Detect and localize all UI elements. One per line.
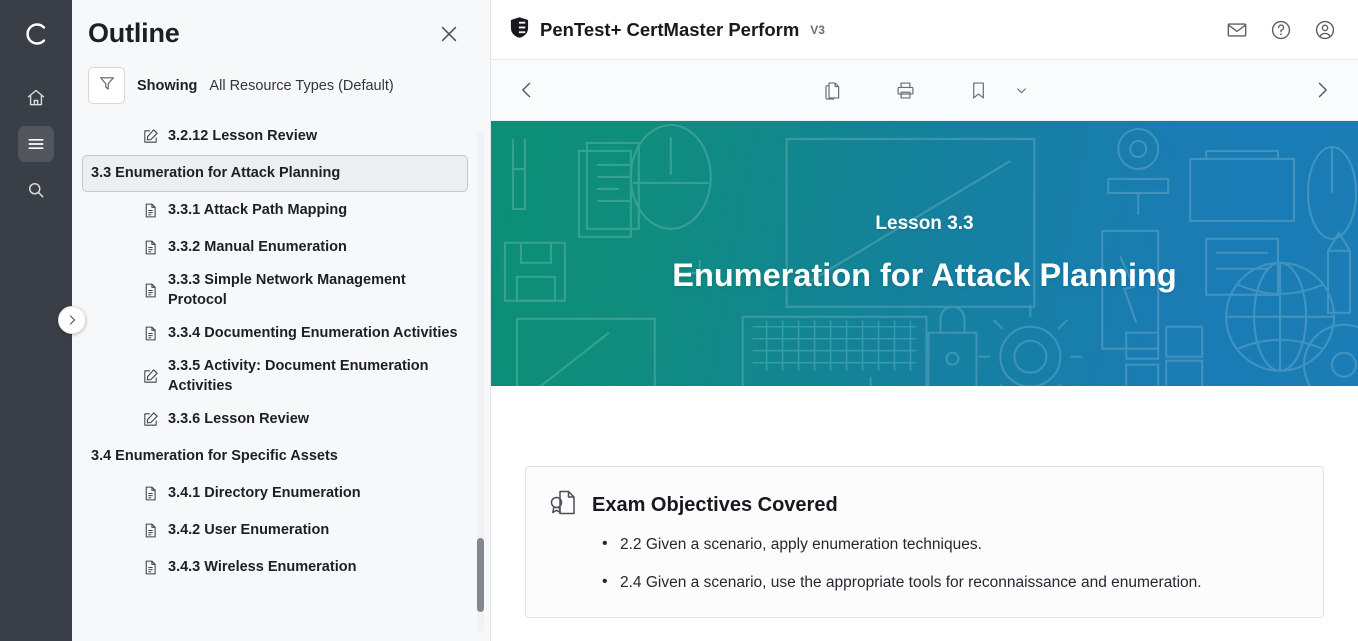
filter-row: Showing All Resource Types (Default) [72, 55, 490, 118]
page-title: Outline [88, 18, 180, 49]
app-root: Outline Showing All Resource Types (Defa… [0, 0, 1358, 641]
outline-item[interactable]: 3.3.1 Attack Path Mapping [82, 192, 468, 229]
document-toolbar [491, 60, 1358, 121]
lesson-hero-banner: Lesson 3.3 Enumeration for Attack Planni… [491, 121, 1358, 386]
outline-item-label: 3.4 Enumeration for Specific Assets [91, 447, 338, 467]
outline-item-label: 3.3 Enumeration for Attack Planning [91, 164, 340, 184]
account-icon[interactable] [1314, 19, 1336, 41]
exam-objectives-card: Exam Objectives Covered 2.2 Given a scen… [525, 466, 1324, 618]
sidebar-collapse-toggle[interactable] [58, 306, 86, 334]
top-bar-icons [1226, 19, 1336, 41]
exam-objectives-icon [548, 487, 578, 523]
exam-objectives-list: 2.2 Given a scenario, apply enumeration … [548, 533, 1297, 595]
outline-panel: Outline Showing All Resource Types (Defa… [72, 0, 491, 641]
rail-item-search[interactable] [18, 172, 54, 208]
brand-name: PenTest+ CertMaster Perform [540, 19, 799, 41]
outline-item-label: 3.4.2 User Enumeration [168, 521, 329, 541]
outline-item[interactable]: 3.2.12 Lesson Review [82, 118, 468, 155]
outline-list[interactable]: 3.2.12 Lesson Review3.3 Enumeration for … [72, 118, 490, 641]
outline-header: Outline [72, 0, 490, 55]
outline-item-label: 3.3.6 Lesson Review [168, 410, 309, 430]
previous-page-button[interactable] [513, 76, 541, 104]
outline-item[interactable]: 3.4.1 Directory Enumeration [82, 475, 468, 512]
outline-item-label: 3.3.1 Attack Path Mapping [168, 201, 347, 221]
outline-item-label: 3.3.5 Activity: Document Enumeration Act… [168, 357, 459, 396]
document-body: Exam Objectives Covered 2.2 Given a scen… [491, 386, 1358, 641]
showing-label: Showing [137, 78, 197, 94]
outline-item-label: 3.4.3 Wireless Enumeration [168, 558, 356, 578]
help-icon[interactable] [1270, 19, 1292, 41]
outline-item-label: 3.3.3 Simple Network Management Protocol [168, 271, 459, 310]
bookmark-icon[interactable] [964, 76, 993, 105]
outline-item-label: 3.3.2 Manual Enumeration [168, 238, 347, 258]
next-page-button[interactable] [1308, 76, 1336, 104]
print-icon[interactable] [891, 76, 920, 105]
chevron-down-icon[interactable] [1011, 80, 1032, 101]
hero-lesson-number: Lesson 3.3 [875, 213, 973, 235]
page-icon [141, 485, 159, 502]
outline-item[interactable]: 3.3.6 Lesson Review [82, 401, 468, 438]
outline-item[interactable]: 3.4.2 User Enumeration [82, 512, 468, 549]
hero-lesson-title: Enumeration for Attack Planning [672, 257, 1176, 294]
main-content: PenTest+ CertMaster Perform V3 [491, 0, 1358, 641]
page-icon [141, 325, 159, 342]
outline-item[interactable]: 3.4.3 Wireless Enumeration [82, 549, 468, 586]
outline-item-label: 3.4.1 Directory Enumeration [168, 484, 361, 504]
filter-icon [98, 74, 116, 97]
copy-icon[interactable] [818, 76, 847, 105]
page-icon [141, 202, 159, 219]
showing-value[interactable]: All Resource Types (Default) [209, 78, 393, 94]
outline-item-label: 3.3.4 Documenting Enumeration Activities [168, 324, 458, 344]
outline-item[interactable]: 3.3.4 Documenting Enumeration Activities [82, 315, 468, 352]
exam-objective-item: 2.2 Given a scenario, apply enumeration … [602, 533, 1297, 556]
outline-item[interactable]: 3.3 Enumeration for Attack Planning [82, 155, 468, 192]
outline-item[interactable]: 3.4 Enumeration for Specific Assets [82, 438, 468, 475]
activity-icon [141, 368, 159, 385]
hero-tech-pattern [491, 121, 1358, 386]
c-logo-icon[interactable] [16, 14, 56, 54]
page-icon [141, 522, 159, 539]
filter-button[interactable] [88, 67, 125, 104]
exam-objectives-header: Exam Objectives Covered [548, 487, 1297, 523]
exam-objectives-title: Exam Objectives Covered [592, 494, 838, 517]
outline-scrollbar-thumb[interactable] [477, 538, 484, 612]
rail-item-outline[interactable] [18, 126, 54, 162]
exam-objective-item: 2.4 Given a scenario, use the appropriat… [602, 571, 1297, 594]
brand-version: V3 [810, 23, 825, 37]
top-bar: PenTest+ CertMaster Perform V3 [491, 0, 1358, 60]
page-icon [141, 239, 159, 256]
shield-logo-icon [509, 16, 530, 44]
page-icon [141, 559, 159, 576]
outline-item[interactable]: 3.3.2 Manual Enumeration [82, 229, 468, 266]
rail-item-home[interactable] [18, 80, 54, 116]
activity-icon [141, 128, 159, 145]
page-icon [141, 282, 159, 299]
outline-item[interactable]: 3.3.5 Activity: Document Enumeration Act… [82, 352, 468, 401]
mail-icon[interactable] [1226, 19, 1248, 41]
brand: PenTest+ CertMaster Perform V3 [509, 16, 825, 44]
outline-item[interactable]: 3.3.3 Simple Network Management Protocol [82, 266, 468, 315]
close-icon[interactable] [434, 19, 464, 49]
outline-item-label: 3.2.12 Lesson Review [168, 127, 317, 147]
activity-icon [141, 411, 159, 428]
